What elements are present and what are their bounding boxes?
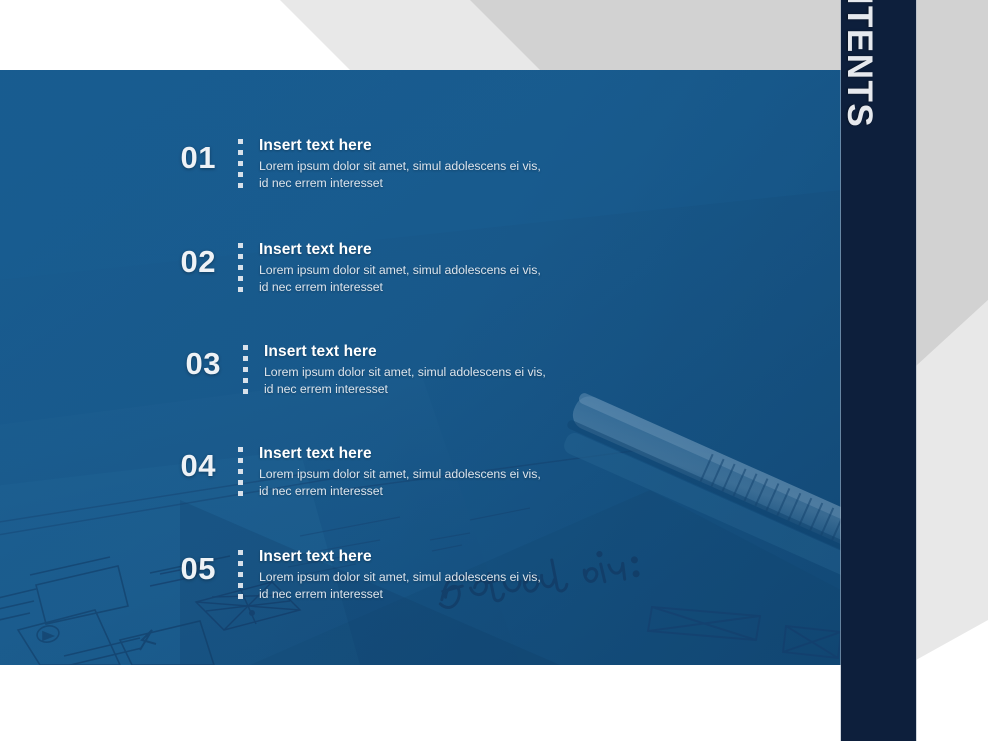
item-description-line2: id nec errem interesset [259, 175, 541, 191]
item-description-line1: Lorem ipsum dolor sit amet, simul adoles… [259, 158, 541, 174]
dotted-divider-icon [238, 136, 244, 188]
dotted-divider-icon [238, 240, 244, 292]
item-number: 05 [162, 547, 216, 584]
item-description-line1: Lorem ipsum dolor sit amet, simul adoles… [259, 466, 541, 482]
dotted-divider-icon [238, 444, 244, 496]
item-description-line2: id nec errem interesset [264, 381, 546, 397]
item-number: 03 [167, 342, 221, 379]
item-number: 01 [162, 136, 216, 173]
item-text-block: Insert text here Lorem ipsum dolor sit a… [264, 342, 546, 397]
list-item[interactable]: 05 Insert text here Lorem ipsum dolor si… [162, 547, 541, 602]
item-number: 02 [162, 240, 216, 277]
dotted-divider-icon [243, 342, 249, 394]
item-description-line2: id nec errem interesset [259, 586, 541, 602]
slide-canvas: CONTENTS 01 Insert text here Lorem ipsum… [0, 0, 988, 741]
item-description-line1: Lorem ipsum dolor sit amet, simul adoles… [259, 569, 541, 585]
contents-list: 01 Insert text here Lorem ipsum dolor si… [0, 70, 841, 665]
list-item[interactable]: 04 Insert text here Lorem ipsum dolor si… [162, 444, 541, 499]
item-description: Lorem ipsum dolor sit amet, simul adoles… [259, 569, 541, 602]
list-item[interactable]: 01 Insert text here Lorem ipsum dolor si… [162, 136, 541, 191]
dotted-divider-icon [238, 547, 244, 599]
list-item[interactable]: 03 Insert text here Lorem ipsum dolor si… [167, 342, 546, 397]
item-description: Lorem ipsum dolor sit amet, simul adoles… [259, 466, 541, 499]
item-description-line2: id nec errem interesset [259, 483, 541, 499]
item-title: Insert text here [259, 547, 541, 566]
item-description: Lorem ipsum dolor sit amet, simul adoles… [259, 158, 541, 191]
list-item[interactable]: 02 Insert text here Lorem ipsum dolor si… [162, 240, 541, 295]
item-text-block: Insert text here Lorem ipsum dolor sit a… [259, 136, 541, 191]
item-text-block: Insert text here Lorem ipsum dolor sit a… [259, 240, 541, 295]
item-description: Lorem ipsum dolor sit amet, simul adoles… [259, 262, 541, 295]
item-title: Insert text here [259, 444, 541, 463]
item-text-block: Insert text here Lorem ipsum dolor sit a… [259, 547, 541, 602]
item-title: Insert text here [264, 342, 546, 361]
item-title: Insert text here [259, 240, 541, 259]
item-description: Lorem ipsum dolor sit amet, simul adoles… [264, 364, 546, 397]
contents-title: CONTENTS [839, 0, 879, 128]
item-description-line1: Lorem ipsum dolor sit amet, simul adoles… [264, 364, 546, 380]
item-title: Insert text here [259, 136, 541, 155]
item-description-line2: id nec errem interesset [259, 279, 541, 295]
contents-sidebar-bar: CONTENTS [841, 0, 916, 741]
item-number: 04 [162, 444, 216, 481]
item-text-block: Insert text here Lorem ipsum dolor sit a… [259, 444, 541, 499]
item-description-line1: Lorem ipsum dolor sit amet, simul adoles… [259, 262, 541, 278]
